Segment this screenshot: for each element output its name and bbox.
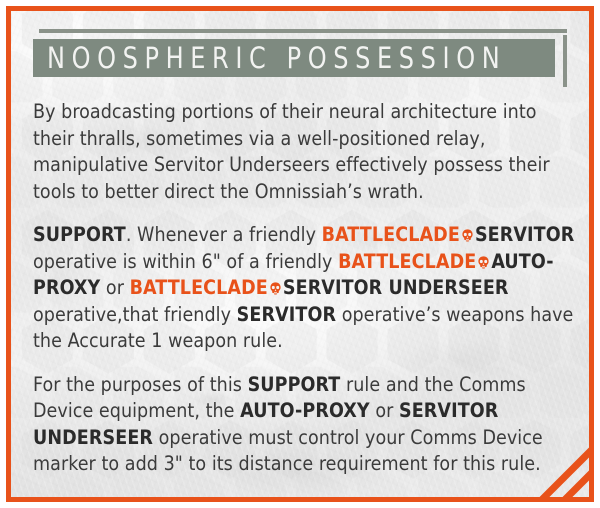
keyword-auto-proxy-2: AUTO-PROXY — [240, 399, 370, 422]
title-block: NOOSPHERIC POSSESSION — [33, 29, 567, 89]
skull-icon — [461, 229, 474, 242]
support-after-label: . Whenever a friendly — [126, 223, 322, 246]
faction-keyword-label: BATTLECLADE — [130, 276, 268, 299]
keyword-servitor-2: SERVITOR — [237, 303, 336, 326]
support-rule-paragraph: SUPPORT. Whenever a friendly BATTLECLADE… — [33, 222, 575, 355]
skull-icon — [269, 282, 282, 295]
support-keyword: SUPPORT — [33, 223, 126, 246]
support-mid-1: operative is within 6" of a friendly — [33, 250, 338, 273]
title-rule-top — [39, 29, 567, 33]
keyword-support-2: SUPPORT — [248, 373, 341, 396]
faction-keyword-label: BATTLECLADE — [338, 250, 476, 273]
faction-keyword-battleclade-2: BATTLECLADE — [338, 250, 491, 273]
clarification-mid-2: or — [370, 399, 399, 422]
clarification-paragraph: For the purposes of this SUPPORT rule an… — [33, 372, 575, 478]
support-mid-2: or — [100, 276, 129, 299]
skull-icon — [477, 256, 490, 269]
faction-keyword-battleclade-3: BATTLECLADE — [130, 276, 283, 299]
faction-keyword-label: BATTLECLADE — [322, 223, 460, 246]
title-rule-right — [563, 35, 567, 87]
page-title: NOOSPHERIC POSSESSION — [47, 39, 516, 77]
keyword-servitor-1: SERVITOR — [475, 223, 574, 246]
faction-keyword-battleclade-1: BATTLECLADE — [322, 223, 475, 246]
support-mid-3: operative,that friendly — [33, 303, 237, 326]
rule-body: By broadcasting portions of their neural… — [33, 99, 575, 478]
flavour-text: By broadcasting portions of their neural… — [33, 99, 575, 205]
keyword-servitor-underseer-1: SERVITOR UNDERSEER — [283, 276, 509, 299]
clarification-lead: For the purposes of this — [33, 373, 248, 396]
flavour-text-value: By broadcasting portions of their neural… — [33, 100, 550, 203]
rule-card: NOOSPHERIC POSSESSION By broadcasting po… — [6, 6, 594, 502]
